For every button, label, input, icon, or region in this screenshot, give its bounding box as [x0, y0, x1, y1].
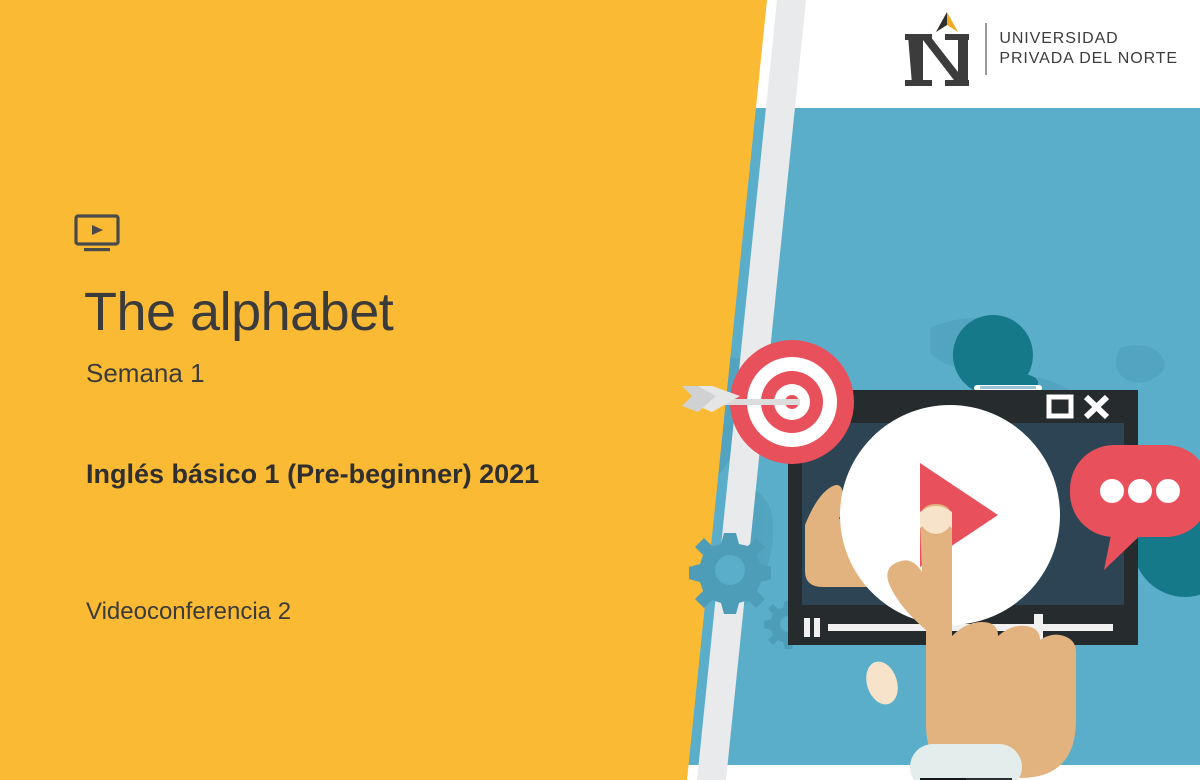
- video-screen-icon: [74, 214, 120, 257]
- logo-wordmark: UNIVERSIDAD PRIVADA DEL NORTE: [999, 29, 1178, 68]
- session-label: Videoconferencia 2: [86, 598, 291, 626]
- gear-large: [689, 533, 771, 614]
- presentation-slide: UNIVERSIDAD PRIVADA DEL NORTE The alphab…: [0, 0, 1200, 780]
- logo-line-1: UNIVERSIDAD: [999, 29, 1178, 49]
- online-video-learning-illustration: [620, 100, 1200, 780]
- week-subtitle: Semana 1: [86, 358, 205, 389]
- course-name: Inglés básico 1 (Pre-beginner) 2021: [86, 457, 606, 493]
- letter-n-monogram-icon: [903, 10, 973, 88]
- university-logo: UNIVERSIDAD PRIVADA DEL NORTE: [903, 10, 1178, 88]
- logo-divider: [985, 23, 987, 75]
- logo-line-2: PRIVADA DEL NORTE: [999, 49, 1178, 69]
- page-title: The alphabet: [84, 284, 393, 341]
- target-with-arrow: [682, 340, 854, 464]
